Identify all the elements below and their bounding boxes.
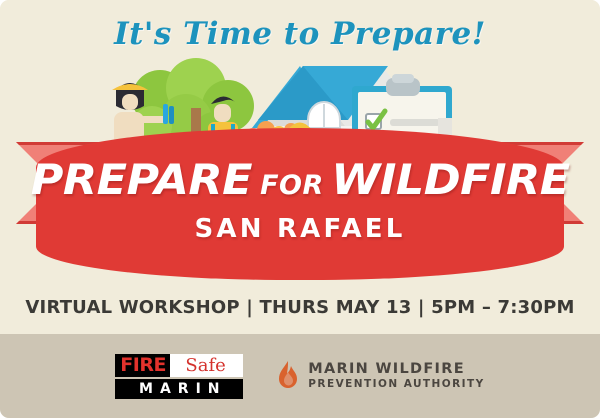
fire-safe-marin-logo[interactable]: FIRE Safe MARIN	[115, 354, 243, 399]
mwpa-line-1: MARIN WILDFIRE	[308, 361, 484, 378]
fire-safe-marin-wordmark-top: FIRE Safe	[115, 354, 243, 377]
sponsor-logos: FIRE Safe MARIN MARIN WILDFIRE PREVENTIO…	[0, 334, 600, 418]
marin-wildfire-prevention-authority-logo[interactable]: MARIN WILDFIRE PREVENTION AUTHORITY	[277, 360, 484, 392]
ribbon-city-name: SAN RAFAEL	[0, 214, 600, 244]
page-title-script: It's Time to Prepare!	[0, 16, 600, 52]
fire-safe-marin-word-fire: FIRE	[115, 354, 170, 377]
ribbon-title-word-prepare: PREPARE	[31, 159, 252, 201]
fire-safe-marin-word-safe: Safe	[170, 354, 243, 377]
poster-card: It's Time to Prepare!	[0, 0, 600, 418]
ribbon-title-word-for: FOR	[260, 170, 324, 201]
event-details: VIRTUAL WORKSHOP | THURS MAY 13 | 5PM – …	[0, 297, 600, 318]
mwpa-wordmark: MARIN WILDFIRE PREVENTION AUTHORITY	[308, 361, 484, 391]
flame-icon	[277, 360, 299, 392]
ribbon-title: PREPARE FOR WILDFIRE	[0, 159, 600, 201]
mwpa-line-2: PREVENTION AUTHORITY	[308, 378, 484, 391]
ribbon-banner: PREPARE FOR WILDFIRE SAN RAFAEL	[0, 128, 600, 288]
fire-safe-marin-word-marin: MARIN	[115, 379, 243, 399]
ribbon-text-group: PREPARE FOR WILDFIRE SAN RAFAEL	[0, 128, 600, 280]
ribbon-title-word-wildfire: WILDFIRE	[331, 159, 569, 201]
